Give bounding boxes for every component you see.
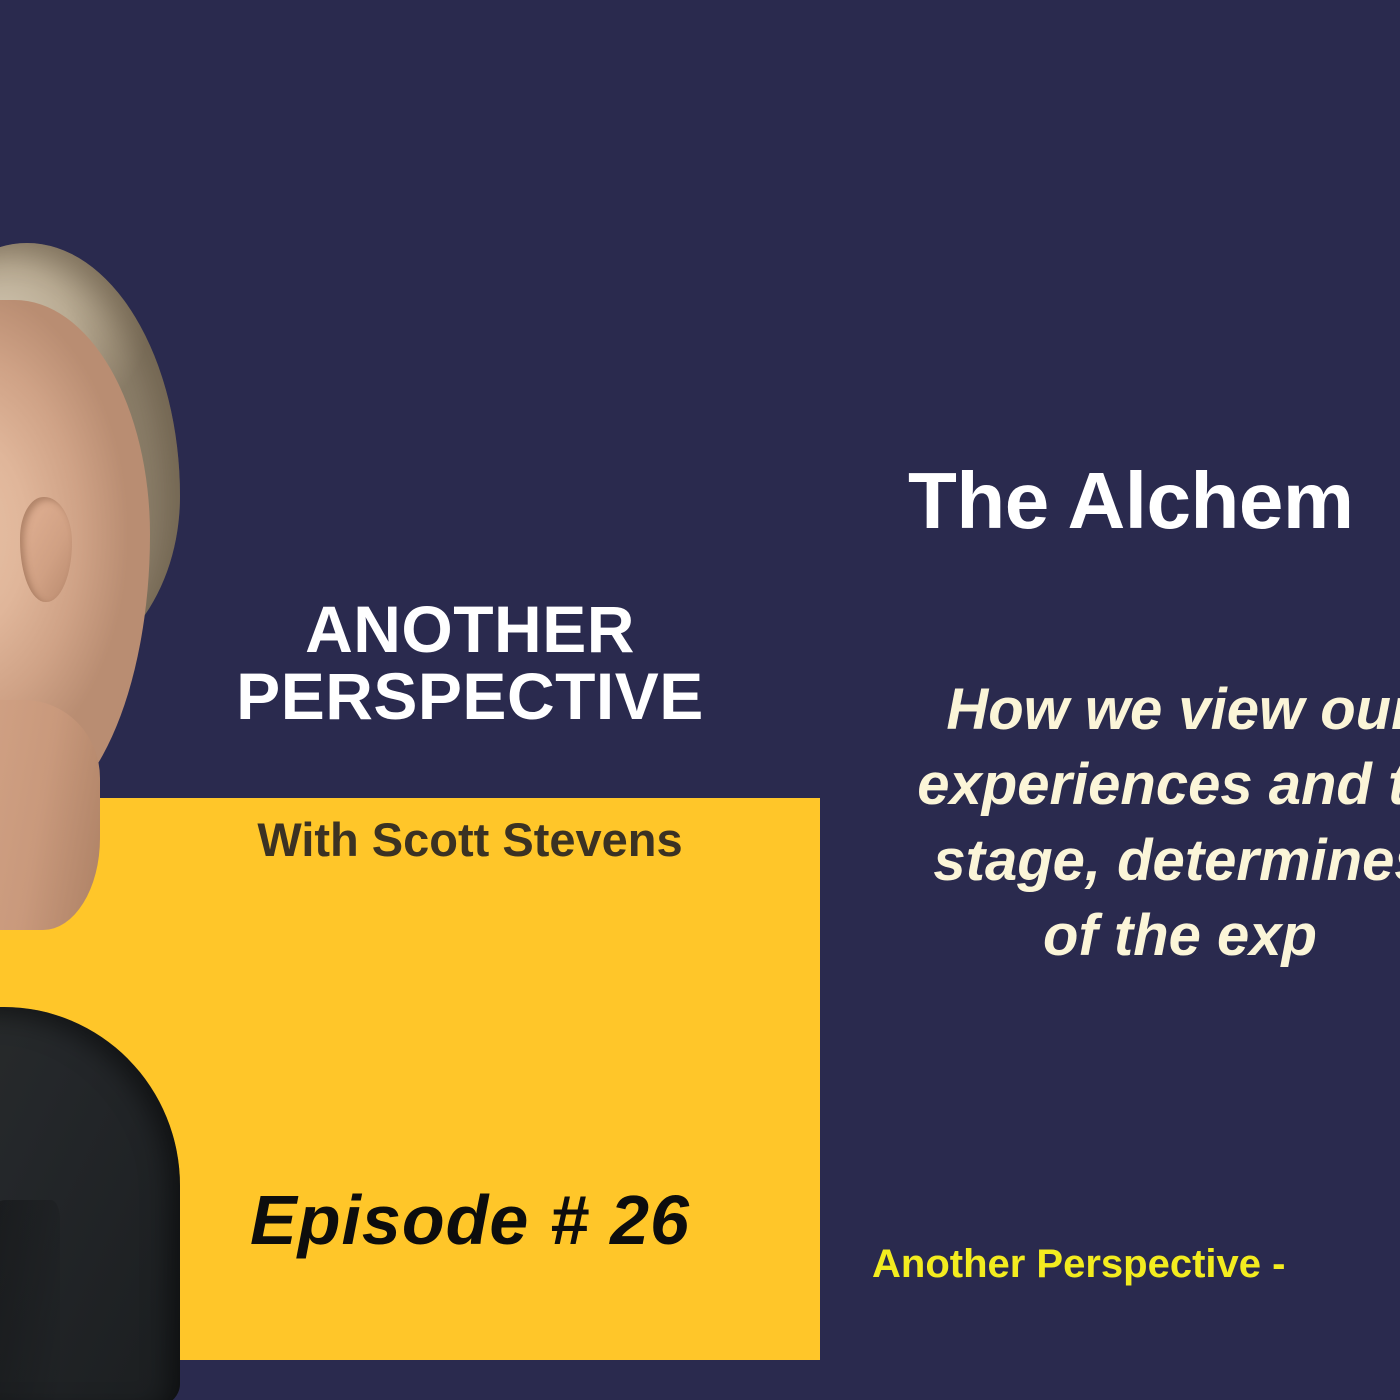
episode-description-line: of the exp xyxy=(700,898,1400,973)
portrait-suit-lapel xyxy=(0,1200,60,1400)
episode-description-line: How we view our xyxy=(700,672,1400,747)
episode-title: The Alchem xyxy=(908,455,1353,547)
episode-number: Episode # 26 xyxy=(120,1180,820,1260)
podcast-cover-art: ANOTHER PERSPECTIVE With Scott Stevens E… xyxy=(0,0,1400,1400)
episode-footer-label: Another Perspective - xyxy=(872,1242,1285,1287)
portrait-neck xyxy=(0,700,100,930)
episode-description-line: stage, determines xyxy=(700,823,1400,898)
show-title-line-1: ANOTHER xyxy=(120,596,820,663)
episode-description-line: experiences and th xyxy=(700,747,1400,822)
episode-description: How we view our experiences and th stage… xyxy=(700,672,1400,974)
